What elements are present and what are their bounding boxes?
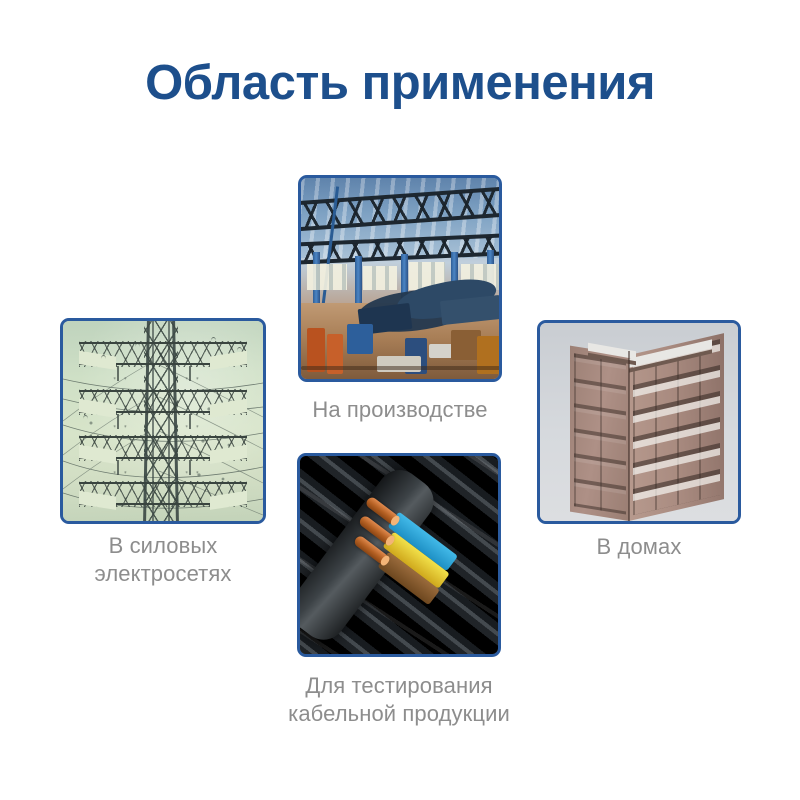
application-area-infographic: Область применения (0, 0, 800, 800)
power-transmission-tower-photo (60, 318, 266, 524)
caption-cable-line2: кабельной продукции (239, 700, 559, 728)
panel-building (537, 320, 741, 524)
page-title: Область применения (0, 58, 800, 109)
caption-factory: На производстве (262, 396, 538, 424)
apartment-building-photo (537, 320, 741, 524)
caption-powerline-line2: электросетях (20, 560, 306, 588)
panel-powerline (60, 318, 266, 524)
power-cable-bundle-photo (297, 453, 501, 657)
caption-powerline-line1: В силовых (20, 532, 306, 560)
caption-building-line1: В домах (517, 533, 761, 561)
caption-cable-line1: Для тестирования (239, 672, 559, 700)
panel-cable (297, 453, 501, 657)
factory-floor-photo (298, 175, 502, 382)
caption-factory-line1: На производстве (262, 396, 538, 424)
panel-factory (298, 175, 502, 382)
caption-powerline: В силовых электросетях (20, 532, 306, 588)
caption-cable: Для тестирования кабельной продукции (239, 672, 559, 728)
caption-building: В домах (517, 533, 761, 561)
